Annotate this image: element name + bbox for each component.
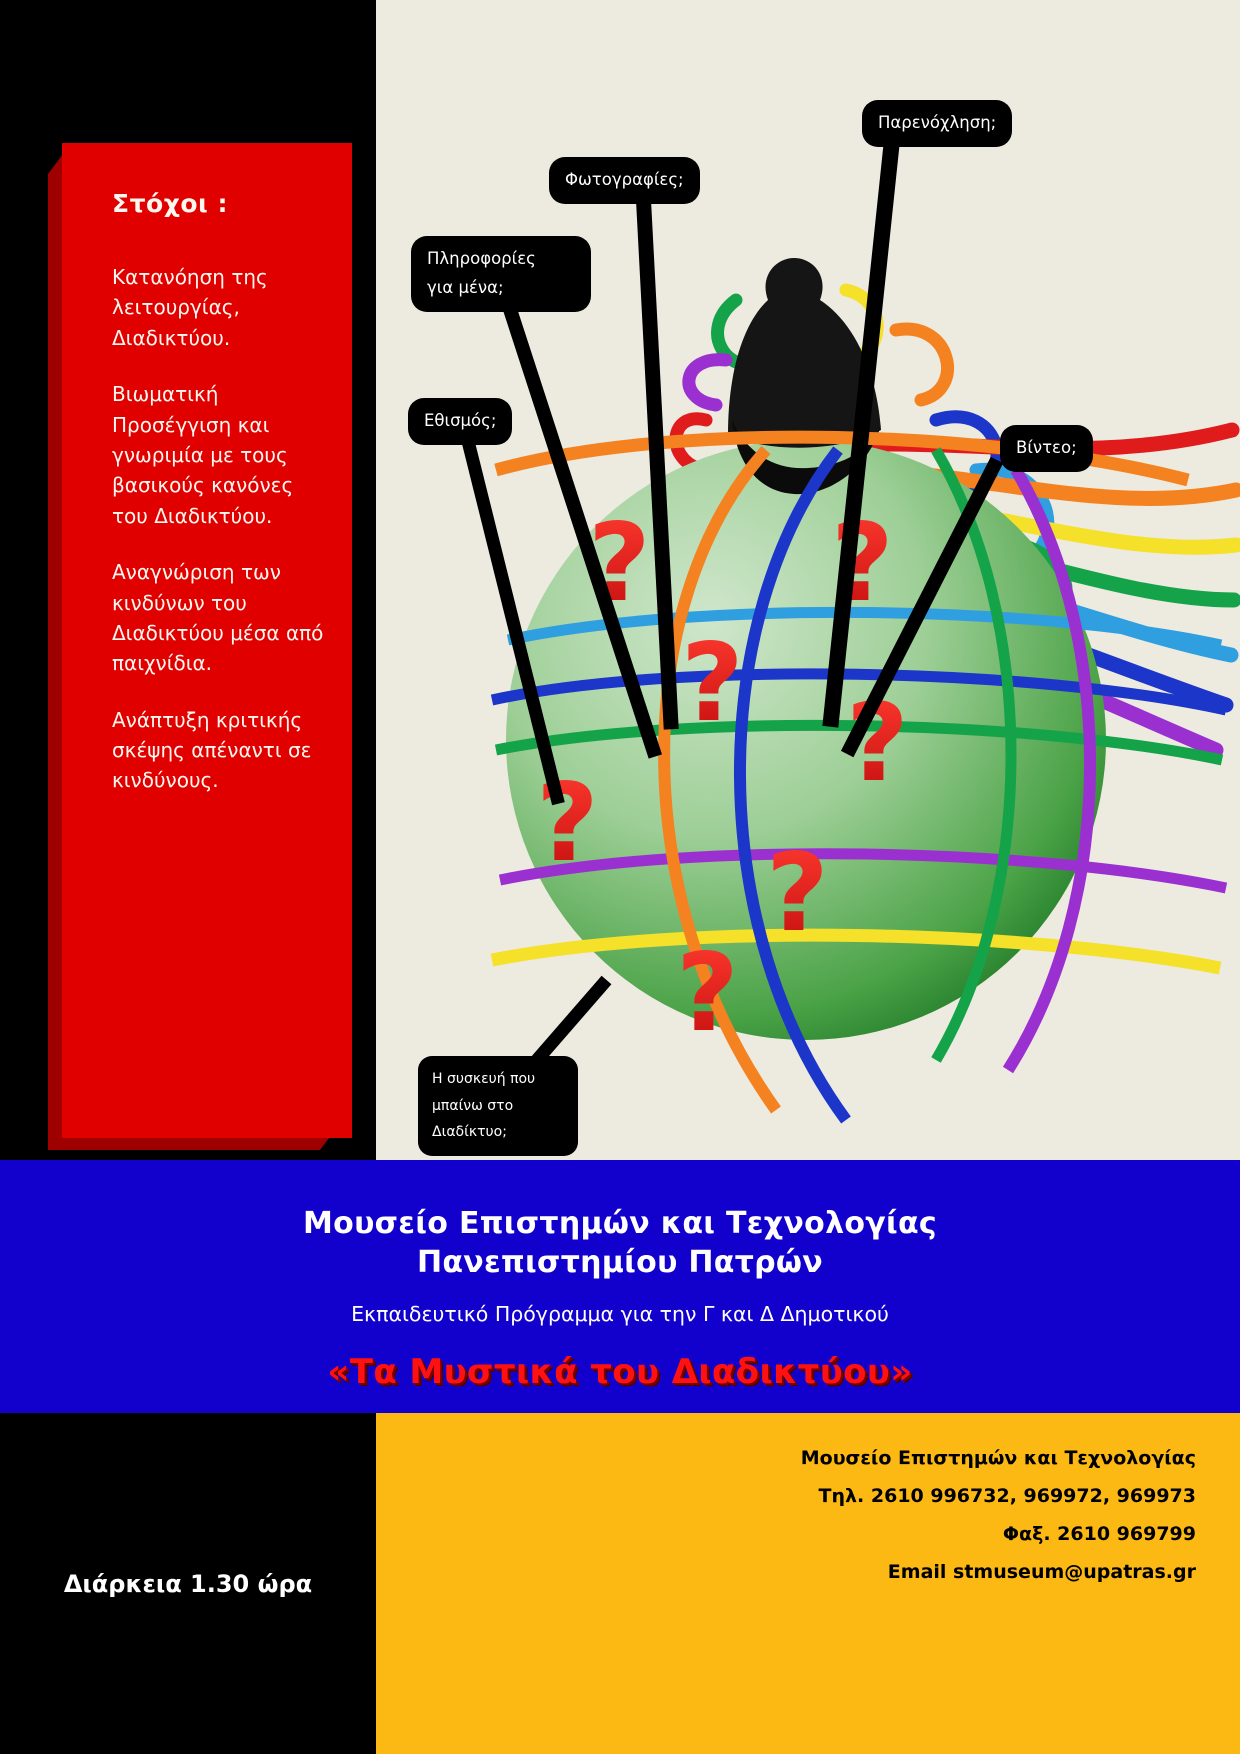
contact-phone: Τηλ. 2610 996732, 969972, 969973 <box>376 1477 1196 1515</box>
blue-band-content: Μουσείο Επιστημών και Τεχνολογίας Πανεπι… <box>0 1160 1240 1413</box>
contact-email[interactable]: Email stmuseum@upatras.gr <box>376 1553 1196 1591</box>
bubble-addiction[interactable]: Εθισμός; <box>408 398 512 445</box>
question-mark: ? <box>676 931 739 1056</box>
poster-main-title: «Τα Μυστικά του Διαδικτύου» <box>0 1352 1240 1392</box>
bubble-harassment[interactable]: Παρενόχληση; <box>862 100 1012 147</box>
objective-item: Κατανόηση της λειτουργίας, Διαδικτύου. <box>112 262 326 353</box>
program-subtitle: Εκπαιδευτικό Πρόγραμμα για την Γ και Δ Δ… <box>0 1302 1240 1326</box>
question-mark: ? <box>681 621 744 746</box>
objective-item: Ανάπτυξη κριτικής σκέψης απέναντι σε κιν… <box>112 705 326 796</box>
bubble-device[interactable]: Η συσκευή που μπαίνω στο Διαδίκτυο; <box>418 1056 578 1156</box>
bubble-video[interactable]: Βίντεο; <box>1000 425 1093 472</box>
objectives-content: Στόχοι : Κατανόηση της λειτουργίας, Διαδ… <box>62 143 352 1138</box>
contact-museum: Μουσείο Επιστημών και Τεχνολογίας <box>376 1439 1196 1477</box>
duration-label: Διάρκεια 1.30 ώρα <box>0 1413 376 1754</box>
contact-fax: Φαξ. 2610 969799 <box>376 1515 1196 1553</box>
question-mark: ? <box>766 831 829 956</box>
objective-item: Αναγνώριση των κινδύνων του Διαδικτύου μ… <box>112 557 326 679</box>
bubble-photos[interactable]: Φωτογραφίες; <box>549 157 700 204</box>
objective-item: Βιωματική Προσέγγιση και γνωριμία με του… <box>112 379 326 531</box>
bubble-personal-info[interactable]: Πληροφορίες για μένα; <box>411 236 591 312</box>
poster: Στόχοι : Κατανόηση της λειτουργίας, Διαδ… <box>0 0 1240 1754</box>
objectives-title: Στόχοι : <box>112 189 326 218</box>
museum-name-line2: Πανεπιστημίου Πατρών <box>0 1245 1240 1280</box>
museum-name-line1: Μουσείο Επιστημών και Τεχνολογίας <box>0 1206 1240 1241</box>
contact-block: Μουσείο Επιστημών και Τεχνολογίας Τηλ. 2… <box>376 1413 1240 1754</box>
